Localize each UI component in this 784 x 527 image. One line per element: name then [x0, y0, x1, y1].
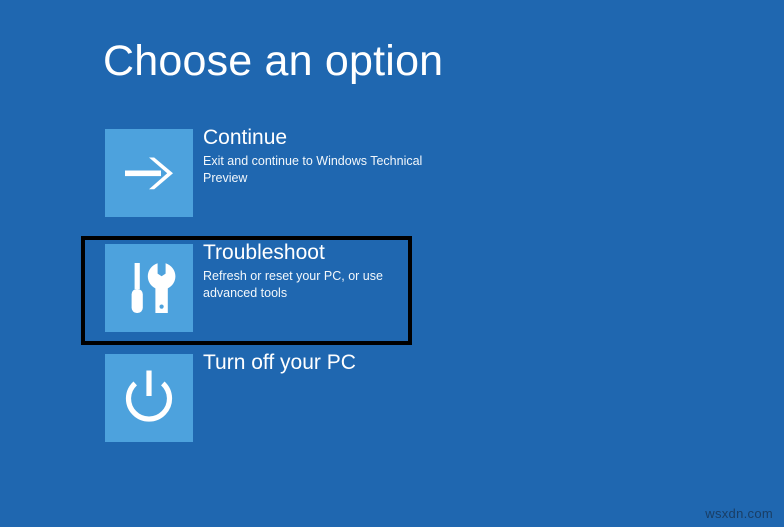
option-troubleshoot-tile[interactable] [105, 244, 193, 332]
option-continue-description: Exit and continue to Windows Technical P… [203, 153, 436, 186]
arrow-right-icon [105, 129, 193, 217]
option-shutdown-tile[interactable] [105, 354, 193, 442]
option-troubleshoot[interactable]: Troubleshoot Refresh or reset your PC, o… [105, 244, 415, 332]
option-continue[interactable]: Continue Exit and continue to Windows Te… [105, 129, 415, 217]
screwdriver-wrench-icon [105, 244, 193, 332]
option-shutdown-text: Turn off your PC [203, 350, 453, 378]
option-shutdown-title: Turn off your PC [203, 350, 453, 376]
choose-an-option-screen: Choose an option Continue Exit and conti… [0, 0, 784, 527]
watermark: wsxdn.com [705, 506, 773, 521]
option-troubleshoot-description: Refresh or reset your PC, or use advance… [203, 268, 436, 301]
option-shutdown[interactable]: Turn off your PC [105, 354, 415, 442]
option-continue-text: Continue Exit and continue to Windows Te… [203, 125, 453, 187]
option-troubleshoot-title: Troubleshoot [203, 240, 453, 266]
option-continue-tile[interactable] [105, 129, 193, 217]
option-troubleshoot-text: Troubleshoot Refresh or reset your PC, o… [203, 240, 453, 302]
option-continue-title: Continue [203, 125, 453, 151]
page-title: Choose an option [103, 37, 443, 86]
power-icon [105, 354, 193, 442]
